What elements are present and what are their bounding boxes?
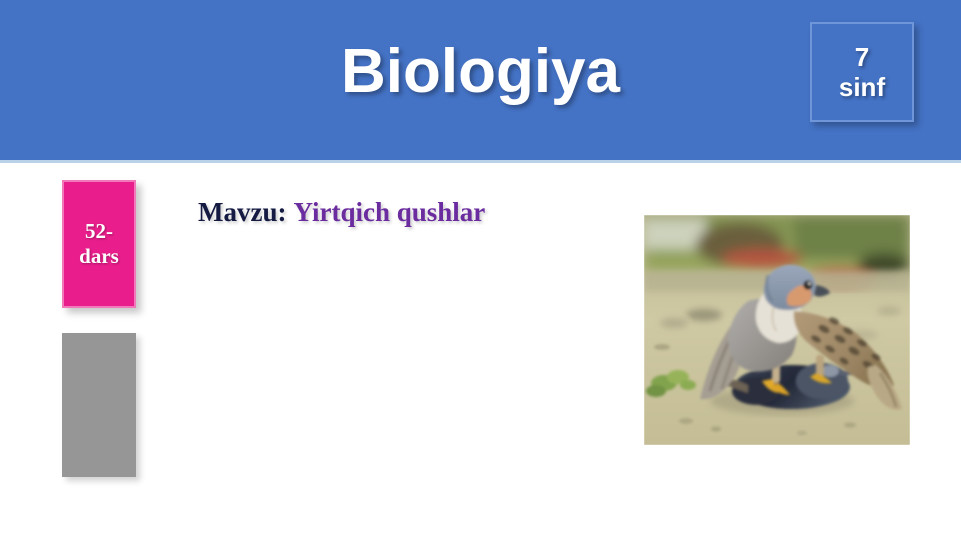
bird-of-prey-with-pigeon-illustration	[644, 215, 910, 445]
topic-value: Yirtqich qushlar	[293, 197, 485, 227]
grade-badge: 7 sinf	[810, 22, 914, 122]
lesson-badge-line-1: 52-	[85, 219, 113, 244]
gray-placeholder-block	[62, 333, 136, 477]
topic-line: Mavzu:Yirtqich qushlar	[198, 196, 485, 228]
topic-label: Mavzu:	[198, 197, 286, 227]
header-underline-divider	[0, 160, 961, 163]
lesson-photo	[644, 215, 910, 445]
grade-number: 7	[855, 42, 869, 72]
lesson-number-badge: 52- dars	[62, 180, 136, 308]
lesson-badge-line-2: dars	[79, 244, 119, 269]
slide-root: Biologiya 7 sinf 52- dars Mavzu:Yirtqich…	[0, 0, 961, 540]
grade-word: sinf	[839, 72, 885, 102]
